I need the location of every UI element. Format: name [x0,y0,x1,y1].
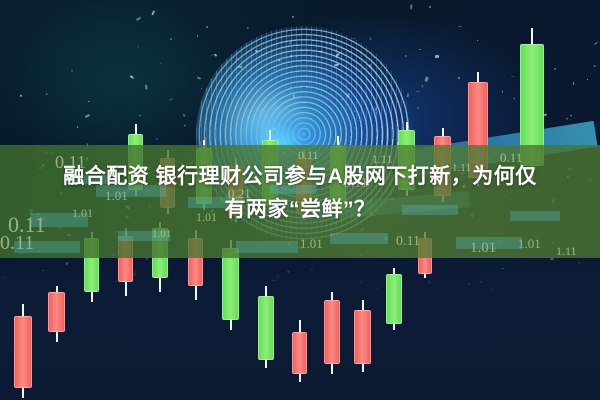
page-title: 融合配资 银行理财公司参与A股网下打新，为何仅 有两家“尝鲜”？ [0,160,600,226]
particle [594,42,598,45]
particle [151,11,155,16]
particle [84,114,89,118]
particle [197,76,201,79]
band-number: 1.11 [556,244,577,258]
particle [352,37,357,39]
candlestick-body [48,292,65,332]
particle [566,117,568,119]
particle [183,114,185,117]
particle [458,26,462,28]
particle [288,40,292,45]
particle [234,106,237,108]
candlestick-body [354,310,371,364]
headline-line-2: 有两家“尝鲜”？ [0,193,600,226]
band-accent-bar [14,241,80,253]
band-accent-bar [330,233,388,244]
particle [375,112,377,114]
particle [330,42,331,44]
particle [246,117,248,119]
banner-image: 0.110.110.111.011.011.011.010.210.211.11… [0,0,600,400]
particle [554,68,556,70]
particle [594,65,596,67]
particle [292,15,294,17]
candlestick-body [324,300,340,364]
particle [206,26,208,28]
candlestick [354,300,371,372]
candlestick [258,286,274,368]
particle [573,81,575,84]
particle [458,76,461,79]
particle [236,58,238,60]
particle [70,69,72,71]
particle [419,49,421,50]
particle [238,66,242,69]
particle [169,38,172,41]
particle [335,53,340,58]
candlestick-body [14,316,32,388]
particle [425,77,429,82]
particle [200,88,201,89]
particle [76,126,78,128]
particle [160,63,162,65]
particle [139,115,141,117]
particle [375,107,378,111]
particle [211,55,213,57]
particle [511,75,514,77]
particle [319,51,323,53]
particle [334,64,339,67]
candlestick [324,292,340,374]
candlestick [292,320,307,382]
particle [247,26,249,28]
particle [587,79,588,80]
particle [197,35,199,37]
particle [45,93,47,95]
particle [435,55,439,58]
particle [421,85,424,88]
band-accent-bar [118,231,170,241]
particle [501,90,502,93]
candlestick-body [386,274,402,324]
particle [416,91,420,93]
candlestick-body [292,332,307,374]
particle [346,92,350,97]
particle [289,86,292,88]
candlestick [48,286,65,342]
particle [213,54,217,58]
particle [417,107,420,110]
band-number: 0.11 [396,234,420,250]
particle [273,69,275,71]
particle [293,94,295,99]
particle [513,98,515,100]
particle [169,99,173,102]
band-number: 1.01 [300,236,323,252]
particle [130,75,134,78]
particle [289,55,292,58]
particle [429,6,431,8]
band-accent-bar [456,237,522,249]
particle [156,138,158,140]
particle [402,117,404,118]
particle [278,58,280,61]
band-accent-bar [236,241,298,253]
particle [137,45,139,48]
particle [369,37,372,41]
particle [145,85,147,90]
particle [406,93,409,97]
particle [184,124,186,126]
particle [570,115,572,117]
particle [88,101,90,103]
particle [477,40,478,41]
particle [368,64,371,68]
particle [20,95,22,97]
candlestick-body [258,296,274,360]
candlestick [14,304,32,398]
particle [404,55,407,58]
particle [353,110,355,112]
particle [410,5,412,10]
particle [136,17,141,21]
particle [255,50,258,52]
candlestick [386,268,402,330]
candlestick-body [222,248,239,320]
headline-line-1: 融合配资 银行理财公司参与A股网下打新，为何仅 [63,165,537,188]
